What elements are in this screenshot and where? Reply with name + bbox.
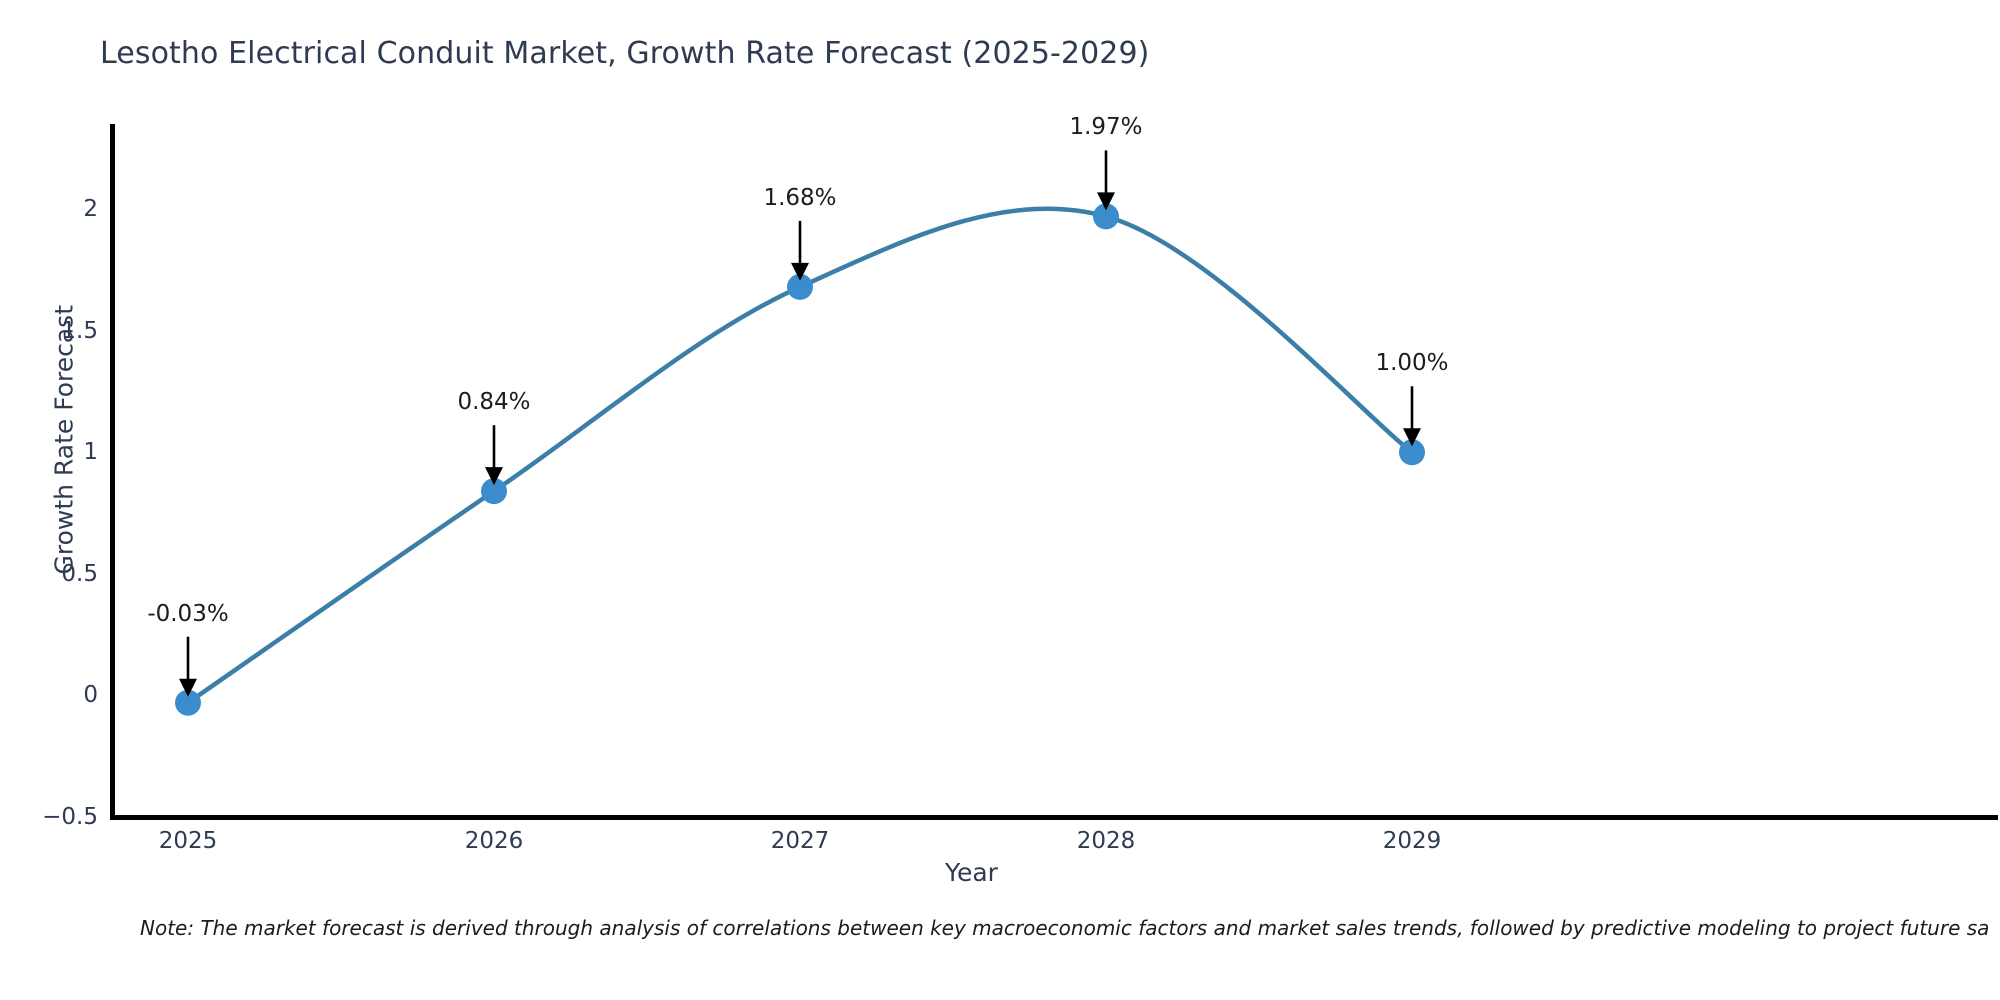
data-point-value-label: 1.97% — [1069, 114, 1142, 140]
data-point-value-label: 0.84% — [457, 389, 530, 415]
data-point-value-label: -0.03% — [147, 601, 228, 627]
data-point-value-label: 1.00% — [1375, 350, 1448, 376]
data-point-value-label: 1.68% — [763, 185, 836, 211]
chart-canvas: Lesotho Electrical Conduit Market, Growt… — [0, 0, 2000, 1000]
footnote-note: Note: The market forecast is derived thr… — [140, 916, 1989, 940]
line-series-plot — [0, 0, 2000, 1000]
